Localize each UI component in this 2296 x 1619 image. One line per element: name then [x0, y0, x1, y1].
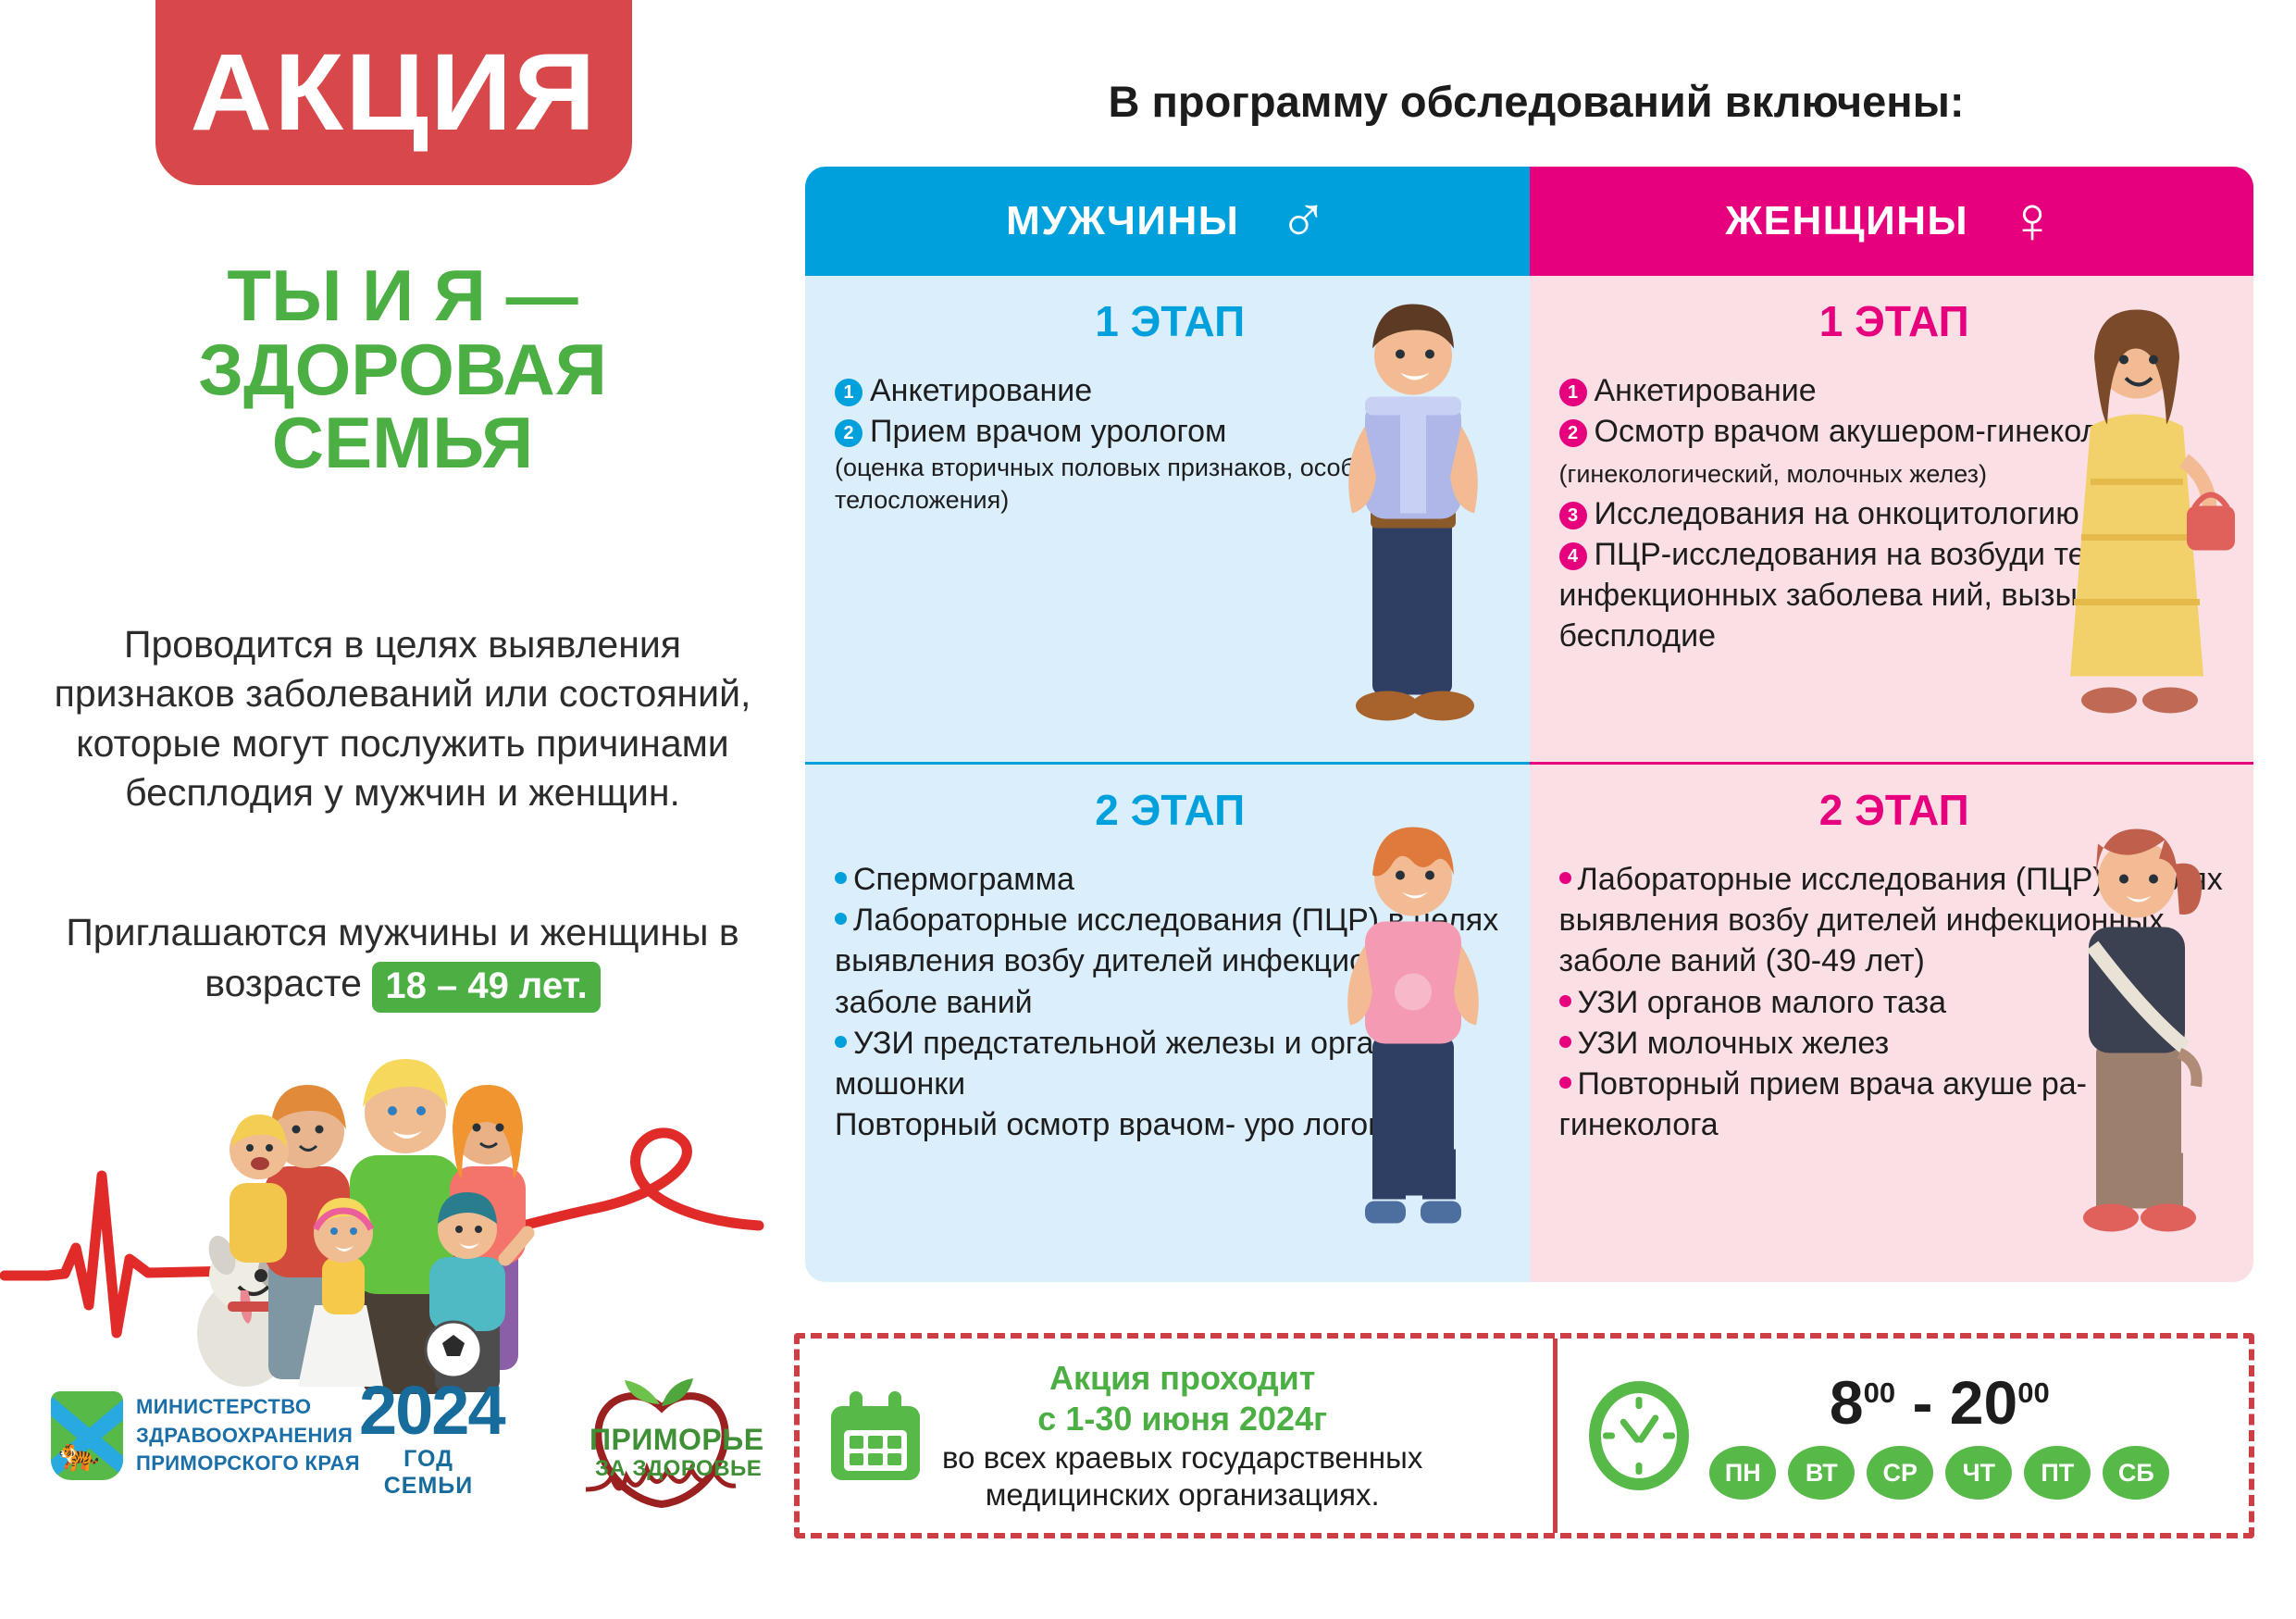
column-header-women-label: ЖЕНЩИНЫ [1725, 198, 1968, 244]
page-title-line-1: ТЫ И Я — [37, 259, 768, 333]
item-text: Повторный прием врача акуше ра-гинеколог… [1559, 1066, 2088, 1142]
item-note: (гинекологический, молочных желез) [1559, 460, 1988, 488]
logo-row: 🐅 МИНИСТЕРСТВО ЗДРАВООХРАНЕНИЯ ПРИМОРСКО… [51, 1375, 782, 1513]
stage-2-row: 2 ЭТАП Спермограмма Лабораторные исследо… [805, 762, 2253, 1282]
woman-stage2-illustration [2031, 765, 2244, 1282]
calendar-icon [831, 1391, 920, 1480]
woman-stage1-illustration [2031, 276, 2244, 762]
primorsky-krai-coat-of-arms-icon: 🐅 [51, 1391, 123, 1480]
poster-root: АКЦИЯ ТЫ И Я — ЗДОРОВАЯ СЕМЬЯ Проводится… [0, 0, 2296, 1619]
item-text: УЗИ молочных желез [1578, 1026, 1890, 1061]
primorye-health-logo: ПРИМОРЬЕ ЗА ЗДОРОВЬЕ [551, 1375, 773, 1513]
item-text: Анкетирование [1595, 373, 1817, 408]
year-of-family-caption: ГОД СЕМЬИ [359, 1446, 498, 1500]
item-number-badge: 2 [835, 419, 863, 447]
bullet-icon [835, 872, 847, 884]
item-number-badge: 2 [1559, 419, 1587, 447]
campaign-promo-line-2: с 1-30 июня 2024г [942, 1399, 1422, 1439]
bottom-info-banner: Акция проходит с 1-30 июня 2024г во всех… [794, 1333, 2254, 1538]
family-illustration [0, 1027, 796, 1398]
promo-badge: АКЦИЯ [155, 0, 632, 185]
hours-open: 8 [1830, 1368, 1864, 1437]
minzdrav-line-3: ПРИМОРСКОГО КРАЯ [136, 1450, 360, 1477]
item-text: Прием врачом урологом [870, 414, 1226, 449]
stage-1-row: 1 ЭТАП 1Анкетирование 2Прием врачом урол… [805, 276, 2253, 762]
boy-stage2-illustration [1308, 765, 1520, 1282]
clock-icon [1589, 1381, 1689, 1490]
campaign-promo-line-3: во всех краевых государственных [942, 1440, 1422, 1475]
campaign-dates-text: Акция проходит с 1-30 июня 2024г во всех… [942, 1358, 1422, 1513]
item-text: УЗИ органов малого таза [1578, 985, 1947, 1020]
year-text: 2024 [359, 1372, 504, 1449]
item-number-badge: 3 [1559, 502, 1587, 529]
item-number-badge: 1 [835, 379, 863, 406]
left-column: АКЦИЯ ТЫ И Я — ЗДОРОВАЯ СЕМЬЯ Проводится… [0, 0, 805, 1619]
minzdrav-line-2: ЗДРАВООХРАНЕНИЯ [136, 1422, 360, 1450]
item-text: Исследования на онкоцитологию [1595, 496, 2079, 531]
page-title: ТЫ И Я — ЗДОРОВАЯ СЕМЬЯ [37, 259, 768, 480]
family-illustration-svg [0, 1027, 796, 1398]
table-header-row: МУЖЧИНЫ ♂ ЖЕНЩИНЫ ♀ [805, 167, 2253, 276]
lead-paragraph: Проводится в целях выявления признаков з… [32, 620, 773, 817]
men-stage-1-cell: 1 ЭТАП 1Анкетирование 2Прием врачом урол… [805, 276, 1530, 762]
women-stage-2-cell: 2 ЭТАП Лабораторные исследования (ПЦР) в… [1530, 762, 2254, 1282]
promo-badge-label: АКЦИЯ [191, 38, 598, 147]
bullet-icon [835, 1036, 847, 1048]
bullet-icon [1559, 1077, 1571, 1089]
examination-program-table: МУЖЧИНЫ ♂ ЖЕНЩИНЫ ♀ 1 ЭТАП 1Анкетировани… [805, 167, 2253, 1282]
hours-open-minutes: 00 [1864, 1376, 1895, 1409]
year-of-family-year: 2024 [359, 1380, 504, 1442]
day-badge-thu: ЧТ [1945, 1446, 2012, 1500]
column-header-men-label: МУЖЧИНЫ [1006, 198, 1239, 244]
page-title-line-2: ЗДОРОВАЯ [37, 333, 768, 407]
column-header-men: МУЖЧИНЫ ♂ [805, 167, 1530, 276]
item-number-badge: 4 [1559, 542, 1587, 570]
program-heading: В программу обследований включены: [805, 76, 2267, 127]
age-range-badge: 18 – 49 лет. [372, 962, 600, 1013]
hours-close-minutes: 00 [2017, 1376, 2049, 1409]
working-days-list: ПН ВТ СР ЧТ ПТ СБ [1709, 1446, 2169, 1500]
minzdrav-line-1: МИНИСТЕРСТВО [136, 1393, 360, 1421]
male-gender-icon: ♂ [1278, 194, 1328, 248]
bullet-icon [835, 913, 847, 925]
minzdrav-logo: 🐅 МИНИСТЕРСТВО ЗДРАВООХРАНЕНИЯ ПРИМОРСКО… [51, 1391, 360, 1480]
working-hours: 800 - 2000 [1830, 1372, 2050, 1433]
men-stage-2-cell: 2 ЭТАП Спермограмма Лабораторные исследо… [805, 762, 1530, 1282]
day-badge-fri: ПТ [2024, 1446, 2091, 1500]
tiger-icon: 🐅 [58, 1438, 100, 1471]
invite-paragraph: Приглашаются мужчины и женщины в возраст… [19, 907, 787, 1013]
hours-close: 20 [1950, 1368, 2017, 1437]
day-badge-wed: СР [1867, 1446, 1933, 1500]
primorye-line-2: ЗА ЗДОРОВЬЕ [595, 1456, 762, 1482]
minzdrav-logo-text: МИНИСТЕРСТВО ЗДРАВООХРАНЕНИЯ ПРИМОРСКОГО… [136, 1393, 360, 1477]
primorye-line-1: ПРИМОРЬЕ [590, 1423, 764, 1457]
toddler-figure [230, 1115, 289, 1263]
day-badge-tue: ВТ [1788, 1446, 1855, 1500]
hours-and-days: 800 - 2000 ПН ВТ СР ЧТ ПТ СБ [1709, 1372, 2169, 1500]
bullet-icon [1559, 995, 1571, 1007]
item-text: Спермограмма [853, 862, 1074, 897]
campaign-promo-line-1: Акция проходит [942, 1358, 1422, 1399]
campaign-promo-line-4: медицинских организациях. [986, 1477, 1380, 1512]
hours-dash: - [1912, 1368, 1932, 1437]
day-badge-mon: ПН [1709, 1446, 1776, 1500]
man-stage1-illustration [1308, 276, 1520, 762]
female-gender-icon: ♀ [2007, 194, 2057, 248]
column-header-women: ЖЕНЩИНЫ ♀ [1530, 167, 2254, 276]
campaign-dates-block: Акция проходит с 1-30 июня 2024г во всех… [800, 1339, 1553, 1533]
item-number-badge: 1 [1559, 379, 1587, 406]
women-stage-1-cell: 1 ЭТАП 1Анкетирование 2Осмотр врачом аку… [1530, 276, 2254, 762]
page-title-line-3: СЕМЬЯ [37, 406, 768, 480]
day-badge-sat: СБ [2103, 1446, 2169, 1500]
year-of-family-logo: 2024 ГОД СЕМЬИ [359, 1380, 498, 1500]
item-text: Анкетирование [870, 373, 1092, 408]
bullet-icon [1559, 1036, 1571, 1048]
bullet-icon [1559, 872, 1571, 884]
working-hours-block: 800 - 2000 ПН ВТ СР ЧТ ПТ СБ [1558, 1339, 2249, 1533]
